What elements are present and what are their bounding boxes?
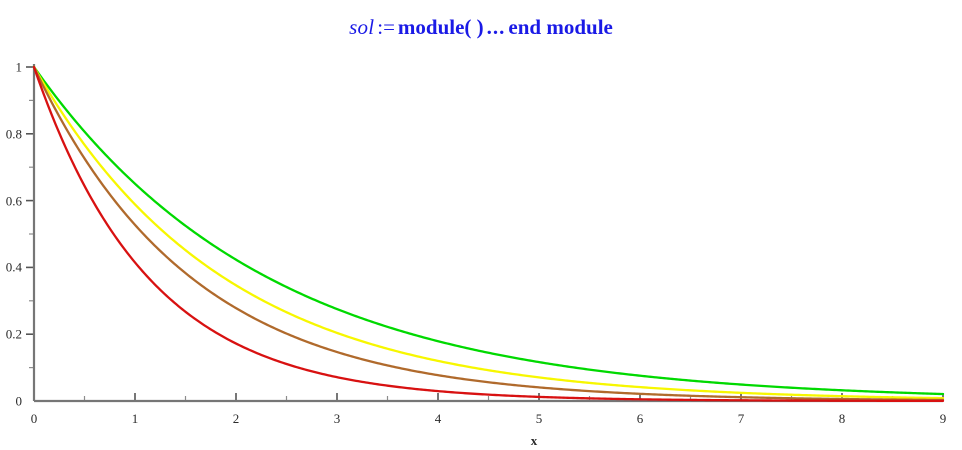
x-tick-label: 5 bbox=[536, 412, 543, 425]
y-tick-label: 0.6 bbox=[0, 194, 22, 207]
data-curves bbox=[34, 67, 943, 401]
y-tick-label: 0.2 bbox=[0, 328, 22, 341]
x-tick-label: 9 bbox=[940, 412, 947, 425]
x-tick-label: 1 bbox=[132, 412, 139, 425]
y-tick-label: 0.4 bbox=[0, 261, 22, 274]
y-tick-label: 0.8 bbox=[0, 127, 22, 140]
curve-brown bbox=[34, 67, 943, 400]
x-tick-label: 3 bbox=[334, 412, 341, 425]
curve-red bbox=[34, 67, 943, 401]
x-tick-label: 8 bbox=[839, 412, 846, 425]
x-tick-label: 6 bbox=[637, 412, 644, 425]
plot-window: sol:=module( )...end module 00.20.40.60.… bbox=[0, 0, 962, 450]
y-tick-label: 1 bbox=[0, 61, 22, 74]
x-tick-label: 7 bbox=[738, 412, 745, 425]
curve-green bbox=[34, 67, 943, 394]
x-tick-label: 2 bbox=[233, 412, 240, 425]
x-tick-label: 0 bbox=[31, 412, 38, 425]
y-tick-label: 0 bbox=[0, 395, 22, 408]
plot-canvas bbox=[0, 0, 962, 450]
x-tick-label: 4 bbox=[435, 412, 442, 425]
x-axis-label: x bbox=[531, 433, 538, 449]
curve-yellow bbox=[34, 67, 943, 398]
